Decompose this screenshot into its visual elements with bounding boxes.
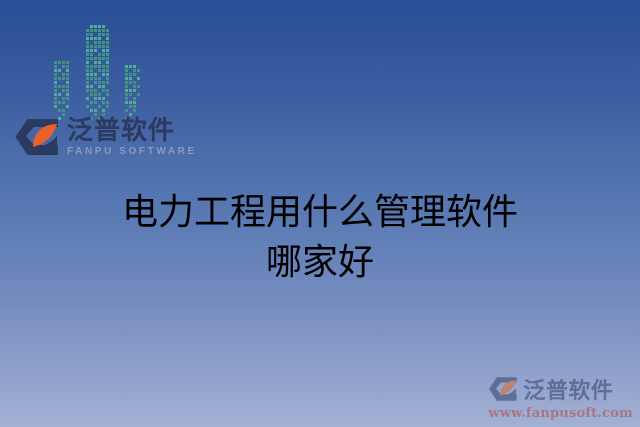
skyline-pixel [90, 89, 93, 92]
skyline-pixel [94, 33, 97, 36]
skyline-pixel [50, 113, 53, 116]
skyline-pixel [86, 53, 89, 56]
skyline-pixel [121, 65, 124, 68]
skyline-pixel [106, 109, 109, 112]
skyline-pixel [54, 105, 57, 108]
pixel-skyline-graphic [50, 14, 142, 120]
skyline-pixel [58, 65, 61, 68]
skyline-pixel [125, 73, 128, 76]
skyline-pixel [102, 69, 105, 72]
skyline-pixel [62, 61, 65, 64]
skyline-pixel [98, 25, 101, 28]
skyline-pixel [125, 89, 128, 92]
skyline-pixel [106, 85, 109, 88]
skyline-pixel [86, 97, 89, 100]
skyline-pixel [82, 33, 85, 36]
skyline-pixel [94, 85, 97, 88]
skyline-pixel [70, 89, 73, 92]
skyline-pixel [58, 81, 61, 84]
skyline-pixel [137, 105, 140, 108]
skyline-pixel [90, 105, 93, 108]
skyline-pixel [94, 97, 97, 100]
skyline-pixel [90, 109, 93, 112]
skyline-pixel [54, 69, 57, 72]
skyline-pixel [102, 45, 105, 48]
skyline-pixel [90, 53, 93, 56]
skyline-pixel [121, 77, 124, 80]
skyline-pixel [110, 65, 113, 68]
skyline-pixel [98, 85, 101, 88]
skyline-pixel [133, 69, 136, 72]
skyline-pixel [70, 57, 73, 60]
skyline-pixel [90, 57, 93, 60]
skyline-pixel [62, 57, 65, 60]
skyline-pixel [58, 101, 61, 104]
skyline-pixel [94, 81, 97, 84]
skyline-pixel [86, 89, 89, 92]
skyline-pixel [58, 113, 61, 116]
skyline-pixel [54, 93, 57, 96]
skyline-pixel [106, 41, 109, 44]
skyline-pixel [106, 57, 109, 60]
skyline-pixel [86, 57, 89, 60]
skyline-pixel [106, 45, 109, 48]
skyline-pixel [86, 105, 89, 108]
skyline-pixel [82, 105, 85, 108]
skyline-pixel [58, 105, 61, 108]
skyline-pixel [90, 41, 93, 44]
skyline-pixel [90, 69, 93, 72]
skyline-pixel [70, 101, 73, 104]
skyline-pixel [62, 77, 65, 80]
skyline-pixel [62, 85, 65, 88]
skyline-pixel [62, 105, 65, 108]
skyline-pixel [86, 65, 89, 68]
skyline-pixel [110, 101, 113, 104]
brand-wordmark: 泛普软件 FANPU SOFTWARE [67, 118, 197, 157]
brand-name-chinese: 泛普软件 [67, 118, 197, 144]
skyline-pixel [94, 69, 97, 72]
skyline-pixel [110, 49, 113, 52]
skyline-pixel [94, 53, 97, 56]
skyline-pixel [94, 101, 97, 104]
skyline-pixel [110, 37, 113, 40]
skyline-pixel [86, 73, 89, 76]
skyline-pixel [102, 49, 105, 52]
skyline-pixel [133, 89, 136, 92]
skyline-pixel [106, 65, 109, 68]
skyline-pixel [82, 73, 85, 76]
skyline-pixel [102, 61, 105, 64]
skyline-center-tower [82, 25, 116, 120]
skyline-pixel [102, 109, 105, 112]
skyline-pixel [102, 97, 105, 100]
skyline-pixel [129, 89, 132, 92]
skyline-pixel [82, 25, 85, 28]
skyline-pixel [66, 85, 69, 88]
skyline-pixel [121, 73, 124, 76]
skyline-pixel [102, 65, 105, 68]
skyline-pixel [121, 97, 124, 100]
skyline-pixel [54, 85, 57, 88]
skyline-pixel [86, 45, 89, 48]
skyline-left-tower [50, 57, 76, 120]
skyline-pixel [50, 73, 53, 76]
skyline-pixel [125, 97, 128, 100]
skyline-pixel [106, 61, 109, 64]
skyline-pixel [125, 93, 128, 96]
skyline-pixel [102, 101, 105, 104]
skyline-pixel [94, 77, 97, 80]
skyline-pixel [86, 101, 89, 104]
skyline-pixel [82, 53, 85, 56]
skyline-pixel [129, 65, 132, 68]
skyline-pixel [106, 101, 109, 104]
skyline-pixel [82, 93, 85, 96]
skyline-pixel [133, 77, 136, 80]
skyline-pixel [137, 81, 140, 84]
skyline-pixel [90, 81, 93, 84]
skyline-pixel [125, 109, 128, 112]
skyline-pixel [70, 73, 73, 76]
skyline-pixel [102, 25, 105, 28]
skyline-pixel [82, 77, 85, 80]
skyline-pixel [90, 29, 93, 32]
skyline-pixel [82, 57, 85, 60]
skyline-pixel [137, 85, 140, 88]
skyline-pixel [98, 45, 101, 48]
skyline-pixel [82, 97, 85, 100]
skyline-pixel [86, 25, 89, 28]
skyline-pixel [102, 57, 105, 60]
skyline-pixel [106, 93, 109, 96]
skyline-pixel [82, 65, 85, 68]
skyline-pixel [110, 61, 113, 64]
page-title: 电力工程用什么管理软件 哪家好 [0, 188, 640, 287]
skyline-pixel [110, 89, 113, 92]
skyline-pixel [90, 65, 93, 68]
skyline-pixel [102, 77, 105, 80]
skyline-pixel [98, 29, 101, 32]
skyline-pixel [94, 89, 97, 92]
skyline-pixel [62, 113, 65, 116]
skyline-pixel [90, 73, 93, 76]
skyline-pixel [90, 49, 93, 52]
skyline-pixel [86, 69, 89, 72]
skyline-pixel [110, 105, 113, 108]
skyline-pixel [129, 81, 132, 84]
skyline-pixel [98, 65, 101, 68]
skyline-pixel [66, 57, 69, 60]
skyline-pixel [62, 69, 65, 72]
skyline-pixel [50, 69, 53, 72]
skyline-pixel [58, 77, 61, 80]
skyline-pixel [129, 97, 132, 100]
skyline-pixel [54, 97, 57, 100]
skyline-pixel [137, 69, 140, 72]
skyline-pixel [133, 85, 136, 88]
skyline-pixel [62, 109, 65, 112]
skyline-pixel [82, 89, 85, 92]
skyline-pixel [106, 73, 109, 76]
skyline-pixel [98, 81, 101, 84]
skyline-pixel [125, 65, 128, 68]
skyline-pixel [133, 101, 136, 104]
skyline-pixel [129, 101, 132, 104]
skyline-pixel [90, 97, 93, 100]
skyline-pixel [110, 69, 113, 72]
skyline-pixel [102, 93, 105, 96]
skyline-pixel [106, 97, 109, 100]
skyline-pixel [106, 25, 109, 28]
skyline-pixel [66, 101, 69, 104]
skyline-pixel [70, 105, 73, 108]
skyline-pixel [110, 85, 113, 88]
skyline-pixel [70, 69, 73, 72]
skyline-pixel [125, 105, 128, 108]
skyline-pixel [82, 85, 85, 88]
skyline-pixel [102, 85, 105, 88]
page-title-line-2: 哪家好 [0, 238, 640, 288]
skyline-pixel [58, 85, 61, 88]
skyline-pixel [137, 109, 140, 112]
watermark-url: www.fanpusoft.com [488, 406, 633, 421]
skyline-pixel [50, 85, 53, 88]
skyline-pixel [66, 105, 69, 108]
skyline-pixel [82, 29, 85, 32]
skyline-pixel [125, 69, 128, 72]
skyline-pixel [90, 37, 93, 40]
skyline-pixel [133, 93, 136, 96]
skyline-pixel [102, 29, 105, 32]
skyline-pixel [110, 57, 113, 60]
skyline-pixel [50, 93, 53, 96]
skyline-pixel [66, 109, 69, 112]
skyline-pixel [133, 109, 136, 112]
skyline-pixel [86, 81, 89, 84]
skyline-pixel [54, 61, 57, 64]
skyline-pixel [90, 45, 93, 48]
skyline-pixel [50, 89, 53, 92]
skyline-pixel [58, 109, 61, 112]
skyline-pixel [70, 97, 73, 100]
skyline-pixel [70, 65, 73, 68]
skyline-pixel [98, 49, 101, 52]
skyline-pixel [98, 101, 101, 104]
skyline-pixel [90, 85, 93, 88]
skyline-pixel [58, 93, 61, 96]
skyline-pixel [98, 69, 101, 72]
skyline-pixel [110, 73, 113, 76]
skyline-pixel [102, 37, 105, 40]
skyline-pixel [98, 93, 101, 96]
skyline-pixel [98, 57, 101, 60]
skyline-pixel [54, 73, 57, 76]
skyline-pixel [137, 93, 140, 96]
skyline-pixel [86, 33, 89, 36]
skyline-pixel [102, 89, 105, 92]
skyline-pixel [125, 77, 128, 80]
skyline-pixel [54, 77, 57, 80]
skyline-pixel [129, 93, 132, 96]
skyline-pixel [129, 109, 132, 112]
skyline-pixel [125, 81, 128, 84]
skyline-pixel [86, 29, 89, 32]
skyline-pixel [129, 77, 132, 80]
skyline-pixel [82, 69, 85, 72]
skyline-pixel [133, 73, 136, 76]
skyline-pixel [110, 77, 113, 80]
skyline-pixel [58, 57, 61, 60]
skyline-pixel [106, 29, 109, 32]
skyline-pixel [50, 101, 53, 104]
skyline-pixel [94, 61, 97, 64]
brand-logo[interactable]: 泛普软件 FANPU SOFTWARE [14, 117, 197, 157]
skyline-pixel [129, 73, 132, 76]
skyline-pixel [66, 81, 69, 84]
skyline-pixel [54, 57, 57, 60]
skyline-pixel [137, 89, 140, 92]
skyline-pixel [98, 33, 101, 36]
skyline-pixel [58, 89, 61, 92]
watermark: 泛普软件 www.fanpusoft.com [488, 373, 633, 421]
skyline-pixel [66, 65, 69, 68]
skyline-pixel [66, 97, 69, 100]
skyline-pixel [98, 37, 101, 40]
skyline-pixel [110, 25, 113, 28]
skyline-pixel [121, 85, 124, 88]
fanpu-logo-mark-watermark-icon [488, 376, 518, 402]
skyline-pixel [86, 41, 89, 44]
promo-banner: 泛普软件 FANPU SOFTWARE 电力工程用什么管理软件 哪家好 泛普软件… [0, 0, 640, 427]
skyline-pixel [110, 41, 113, 44]
skyline-pixel [121, 101, 124, 104]
skyline-pixel [90, 93, 93, 96]
skyline-pixel [90, 33, 93, 36]
skyline-pixel [90, 61, 93, 64]
skyline-pixel [82, 81, 85, 84]
skyline-pixel [94, 25, 97, 28]
skyline-pixel [121, 89, 124, 92]
skyline-pixel [66, 93, 69, 96]
skyline-pixel [58, 97, 61, 100]
skyline-pixel [50, 109, 53, 112]
skyline-pixel [66, 73, 69, 76]
skyline-pixel [98, 73, 101, 76]
skyline-pixel [58, 69, 61, 72]
skyline-pixel [133, 105, 136, 108]
skyline-pixel [137, 97, 140, 100]
skyline-pixel [98, 109, 101, 112]
skyline-pixel [125, 101, 128, 104]
skyline-pixel [106, 37, 109, 40]
skyline-pixel [98, 61, 101, 64]
skyline-pixel [110, 109, 113, 112]
skyline-pixel [94, 109, 97, 112]
skyline-pixel [62, 97, 65, 100]
skyline-pixel [54, 81, 57, 84]
skyline-pixel [106, 89, 109, 92]
skyline-pixel [133, 65, 136, 68]
skyline-pixel [98, 53, 101, 56]
skyline-pixel [102, 105, 105, 108]
skyline-pixel [94, 93, 97, 96]
skyline-pixel [110, 45, 113, 48]
skyline-pixel [98, 105, 101, 108]
skyline-pixel [62, 101, 65, 104]
skyline-pixel [102, 41, 105, 44]
skyline-pixel [137, 73, 140, 76]
skyline-pixel [102, 81, 105, 84]
skyline-pixel [94, 57, 97, 60]
skyline-pixel [86, 37, 89, 40]
skyline-pixel [137, 101, 140, 104]
skyline-pixel [62, 65, 65, 68]
skyline-pixel [50, 97, 53, 100]
skyline-pixel [86, 109, 89, 112]
skyline-pixel [82, 101, 85, 104]
skyline-pixel [125, 85, 128, 88]
skyline-pixel [110, 93, 113, 96]
skyline-pixel [121, 81, 124, 84]
skyline-pixel [110, 53, 113, 56]
skyline-pixel [82, 45, 85, 48]
skyline-pixel [106, 105, 109, 108]
skyline-pixel [94, 49, 97, 52]
skyline-pixel [70, 93, 73, 96]
skyline-pixel [70, 81, 73, 84]
skyline-pixel [121, 93, 124, 96]
skyline-pixel [82, 49, 85, 52]
skyline-pixel [54, 109, 57, 112]
skyline-pixel [62, 73, 65, 76]
skyline-pixel [110, 81, 113, 84]
watermark-logo-row: 泛普软件 [488, 373, 633, 405]
skyline-pixel [137, 65, 140, 68]
skyline-pixel [106, 53, 109, 56]
skyline-pixel [82, 37, 85, 40]
skyline-pixel [102, 53, 105, 56]
skyline-pixel [82, 41, 85, 44]
skyline-pixel [58, 61, 61, 64]
skyline-pixel [94, 73, 97, 76]
skyline-pixel [94, 65, 97, 68]
skyline-pixel [94, 41, 97, 44]
skyline-pixel [50, 105, 53, 108]
skyline-pixel [90, 77, 93, 80]
skyline-pixel [98, 41, 101, 44]
skyline-pixel [70, 85, 73, 88]
skyline-pixel [90, 25, 93, 28]
skyline-pixel [102, 73, 105, 76]
skyline-pixel [50, 81, 53, 84]
skyline-pixel [82, 61, 85, 64]
skyline-pixel [102, 33, 105, 36]
skyline-pixel [50, 57, 53, 60]
skyline-pixel [62, 89, 65, 92]
skyline-pixel [137, 77, 140, 80]
skyline-pixel [110, 29, 113, 32]
skyline-pixel [66, 61, 69, 64]
skyline-pixel [106, 33, 109, 36]
page-title-line-1: 电力工程用什么管理软件 [0, 188, 640, 238]
skyline-pixel [98, 89, 101, 92]
skyline-pixel [66, 69, 69, 72]
skyline-pixel [106, 77, 109, 80]
skyline-pixel [54, 65, 57, 68]
skyline-pixel [66, 77, 69, 80]
skyline-pixel [121, 105, 124, 108]
